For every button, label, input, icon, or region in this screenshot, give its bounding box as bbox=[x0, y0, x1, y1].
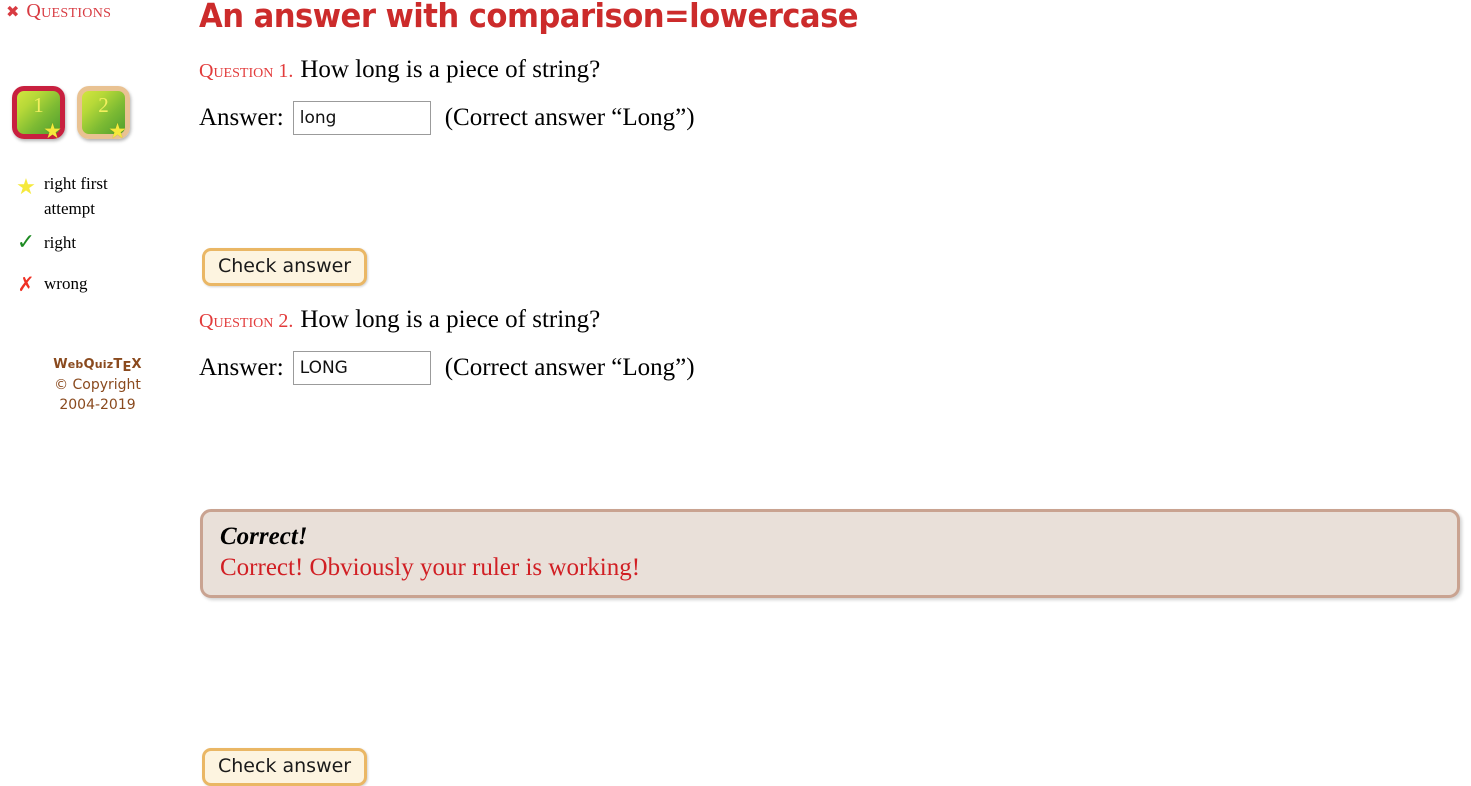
question-nav: 1 ★ 2 ★ bbox=[12, 86, 130, 139]
legend: ★ right first attempt ✓ right ✗ wrong bbox=[8, 172, 188, 311]
cross-icon: ✗ bbox=[8, 272, 44, 294]
legend-item-right-first-attempt: ★ right first attempt bbox=[8, 172, 188, 221]
logo-uiz: uiz bbox=[95, 358, 114, 371]
correct-answer-note: (Correct answer “Long”) bbox=[445, 354, 695, 382]
star-icon: ★ bbox=[8, 172, 44, 199]
question-heading: Question 2. How long is a piece of strin… bbox=[199, 306, 1471, 334]
question-text: How long is a piece of string? bbox=[300, 56, 600, 84]
logo-e: E bbox=[122, 359, 131, 378]
check-answer-button[interactable]: Check answer bbox=[202, 748, 367, 786]
correct-answer-note: (Correct answer “Long”) bbox=[445, 104, 695, 132]
question-tag: Question 2. bbox=[199, 310, 293, 333]
logo-q: Q bbox=[84, 357, 95, 372]
question-text: How long is a piece of string? bbox=[300, 306, 600, 334]
legend-label: right bbox=[44, 231, 76, 256]
copyright-block: WebQuizTEX © Copyright 2004-2019 bbox=[0, 356, 195, 415]
question-button-1[interactable]: 1 ★ bbox=[12, 86, 65, 139]
logo-x: X bbox=[132, 357, 142, 372]
webquiztex-logo: WebQuizTEX bbox=[0, 356, 195, 375]
question-tag-word: Question bbox=[199, 60, 273, 82]
legend-label: right first attempt bbox=[44, 172, 130, 221]
answer-label: Answer: bbox=[199, 354, 284, 382]
question-button-2-number: 2 bbox=[82, 95, 125, 116]
feedback-title: Correct! bbox=[220, 521, 1457, 552]
copyright-years: 2004-2019 bbox=[0, 395, 195, 415]
feedback-message: Correct! Obviously your ruler is working… bbox=[220, 552, 1457, 585]
logo-eb: eb bbox=[68, 358, 84, 371]
star-icon: ★ bbox=[43, 121, 62, 142]
copyright-line: © Copyright bbox=[0, 375, 195, 395]
main-content: An answer with comparison=lowercase Ques… bbox=[199, 0, 1471, 593]
legend-label: wrong bbox=[44, 272, 87, 297]
legend-item-right: ✓ right bbox=[8, 231, 188, 256]
answer-label: Answer: bbox=[199, 104, 284, 132]
sidebar-header-label: Questions bbox=[26, 1, 111, 21]
feedback-box: Correct! Correct! Obviously your ruler i… bbox=[200, 509, 1460, 598]
question-button-2[interactable]: 2 ★ bbox=[77, 86, 130, 139]
question-number: 1. bbox=[278, 60, 293, 82]
question-tag-word: Question bbox=[199, 310, 273, 332]
logo-t: T bbox=[113, 357, 122, 372]
question-block-1: Question 1. How long is a piece of strin… bbox=[199, 56, 1471, 135]
question-block-2: Question 2. How long is a piece of strin… bbox=[199, 306, 1471, 385]
logo-w: W bbox=[53, 357, 68, 372]
page-title: An answer with comparison=lowercase bbox=[199, 0, 858, 35]
check-icon: ✓ bbox=[8, 231, 44, 254]
sidebar: ✖ Questions 1 ★ 2 ★ ★ right first attemp… bbox=[0, 0, 195, 593]
answer-input[interactable] bbox=[293, 101, 431, 135]
question-tag: Question 1. bbox=[199, 60, 293, 83]
check-answer-button[interactable]: Check answer bbox=[202, 248, 367, 286]
star-icon: ★ bbox=[108, 121, 127, 142]
question-heading: Question 1. How long is a piece of strin… bbox=[199, 56, 1471, 84]
answer-row: Answer: (Correct answer “Long”) bbox=[199, 351, 1471, 385]
legend-item-wrong: ✗ wrong bbox=[8, 272, 188, 297]
question-button-1-number: 1 bbox=[17, 95, 60, 116]
answer-input[interactable] bbox=[293, 351, 431, 385]
close-icon[interactable]: ✖ bbox=[6, 4, 19, 20]
sidebar-header: ✖ Questions bbox=[6, 1, 111, 21]
answer-row: Answer: (Correct answer “Long”) bbox=[199, 101, 1471, 135]
question-number: 2. bbox=[278, 310, 293, 332]
